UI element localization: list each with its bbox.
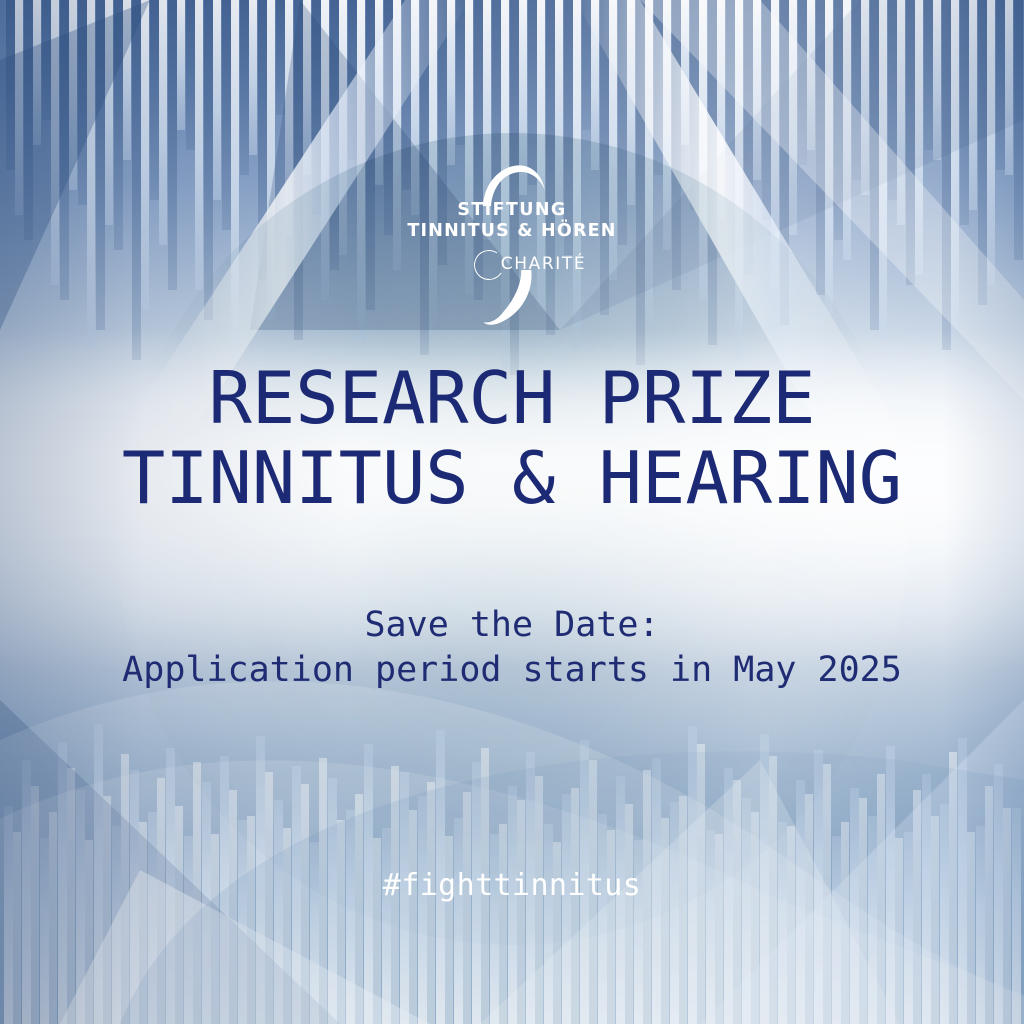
logo: STIFTUNG TINNITUS & HÖREN CHARITÉ — [397, 160, 627, 280]
headline-line-2: TINNITUS & HEARING — [122, 438, 902, 519]
logo-line-charite: CHARITÉ — [501, 254, 586, 275]
poster-canvas: STIFTUNG TINNITUS & HÖREN CHARITÉ RESEAR… — [0, 0, 1024, 1024]
hashtag: #fighttinnitus — [0, 868, 1024, 903]
ear-arc-icon — [479, 160, 551, 208]
charite-c-icon — [471, 247, 507, 283]
subtitle: Save the Date: Application period starts… — [122, 603, 902, 693]
page-title: RESEARCH PRIZE TINNITUS & HEARING — [122, 358, 902, 519]
logo-line-tinnitus-hoeren: TINNITUS & HÖREN — [407, 221, 616, 242]
headline-line-1: RESEARCH PRIZE — [122, 358, 902, 439]
logo-wordmark: STIFTUNG TINNITUS & HÖREN CHARITÉ — [407, 200, 616, 280]
logo-charite-row: CHARITÉ — [425, 250, 634, 280]
subtitle-line-2: Application period starts in May 2025 — [122, 648, 902, 693]
subtitle-line-1: Save the Date: — [122, 603, 902, 648]
